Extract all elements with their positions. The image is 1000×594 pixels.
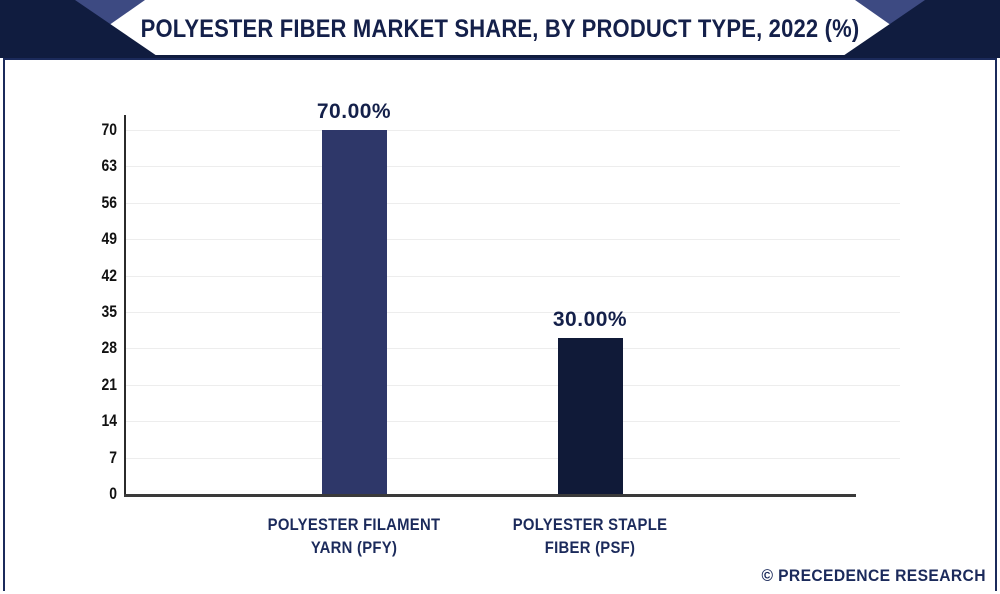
x-axis-category-line: POLYESTER STAPLE [491,514,689,537]
bar[interactable] [322,130,387,494]
y-axis-line [124,115,126,496]
x-axis-category-line: POLYESTER FILAMENT [255,514,453,537]
chart-header: POLYESTER FIBER MARKET SHARE, BY PRODUCT… [0,0,1000,58]
y-tick-label: 56 [89,193,117,213]
x-axis-category-line: FIBER (PSF) [491,537,689,560]
y-tick-label: 28 [89,338,117,358]
y-tick: 42 [71,276,117,277]
gridline [125,421,900,422]
y-tick-label: 7 [89,448,117,468]
bar-value-label: 70.00% [284,100,424,124]
bar[interactable] [558,338,623,494]
x-axis-line [124,494,856,497]
x-axis-category-line: YARN (PFY) [255,537,453,560]
y-tick: 28 [71,348,117,349]
gridline [125,458,900,459]
y-tick-label: 21 [89,375,117,395]
y-tick-label: 63 [89,156,117,176]
chart-card: POLYESTER FIBER MARKET SHARE, BY PRODUCT… [0,0,1000,594]
y-tick: 56 [71,203,117,204]
y-tick-label: 35 [89,302,117,322]
y-tick-label: 14 [89,411,117,431]
gridline [125,130,900,131]
y-tick: 49 [71,239,117,240]
gridline [125,348,900,349]
bar-value-label: 30.00% [520,308,660,332]
y-tick-label: 49 [89,229,117,249]
gridline [125,276,900,277]
y-tick: 70 [71,130,117,131]
y-tick-label: 42 [89,266,117,286]
y-tick-label: 0 [89,484,117,504]
y-tick-label: 70 [89,120,117,140]
x-axis-category-label: POLYESTER STAPLEFIBER (PSF) [491,514,689,560]
gridline [125,239,900,240]
gridline [125,312,900,313]
chart-body: 07142128354249566370 70.00%POLYESTER FIL… [5,60,995,591]
y-tick: 21 [71,385,117,386]
gridline [125,203,900,204]
y-tick: 7 [71,458,117,459]
y-tick: 0 [71,494,117,495]
y-tick: 14 [71,421,117,422]
x-axis-category-label: POLYESTER FILAMENTYARN (PFY) [255,514,453,560]
page-title: POLYESTER FIBER MARKET SHARE, BY PRODUCT… [60,0,940,58]
plot-area: 07142128354249566370 70.00%POLYESTER FIL… [5,60,995,591]
gridline [125,166,900,167]
y-tick: 35 [71,312,117,313]
gridline [125,385,900,386]
copyright-credit: © PRECEDENCE RESEARCH [762,566,986,586]
y-tick: 63 [71,166,117,167]
